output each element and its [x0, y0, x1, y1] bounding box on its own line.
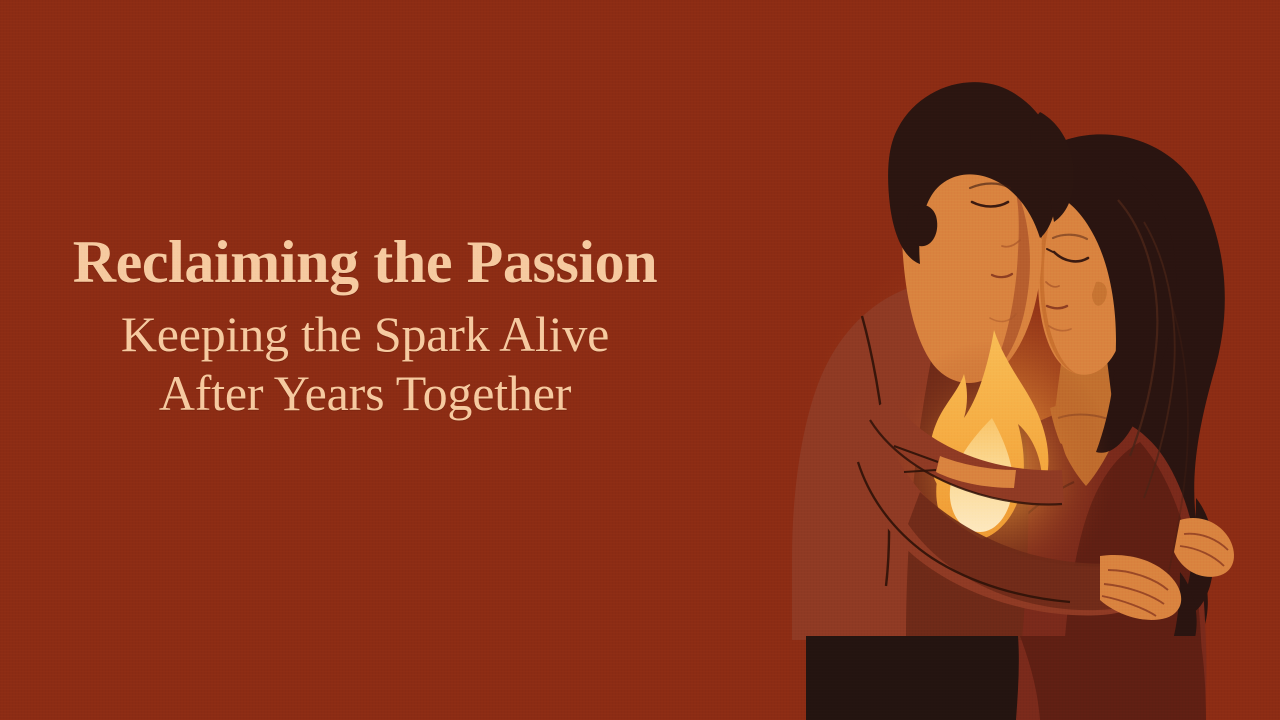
subtitle-line-2: After Years Together: [0, 364, 730, 423]
man-pants: [806, 636, 1019, 720]
subtitle-line-1: Keeping the Spark Alive: [0, 305, 730, 364]
page-title: Reclaiming the Passion: [0, 232, 730, 293]
poster-canvas: Reclaiming the Passion Keeping the Spark…: [0, 0, 1280, 720]
couple-illustration: [744, 0, 1280, 720]
woman-skirt: [1020, 636, 1206, 720]
text-block: Reclaiming the Passion Keeping the Spark…: [0, 232, 760, 423]
